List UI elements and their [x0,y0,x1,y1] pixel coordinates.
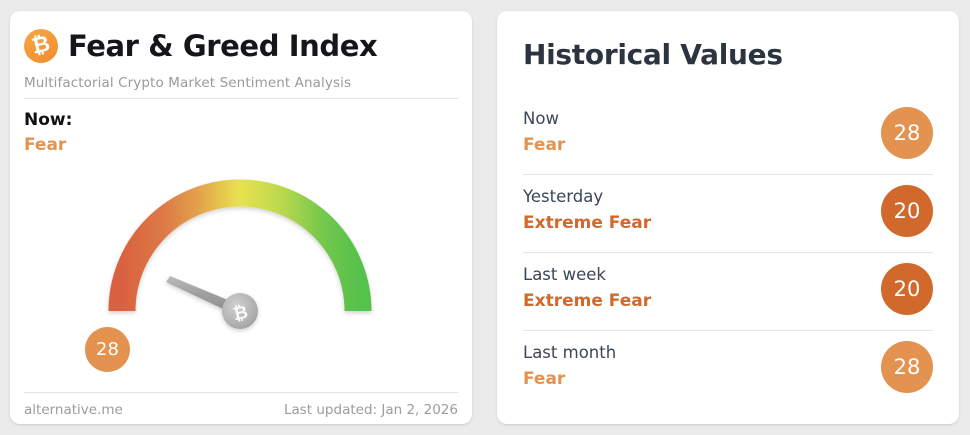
card-header: ₿ Fear & Greed Index [24,29,377,63]
history-row-period: Last week [523,265,606,284]
history-row-period: Now [523,109,559,128]
app-root: ₿ Fear & Greed Index Multifactorial Cryp… [0,0,970,435]
page-subtitle: Multifactorial Crypto Market Sentiment A… [24,75,351,91]
history-list: NowFear28YesterdayExtreme Fear20Last wee… [523,97,933,408]
history-title: Historical Values [523,38,783,71]
history-row-score-badge: 28 [881,341,933,393]
footer-last-updated: Last updated: Jan 2, 2026 [284,402,458,418]
history-row-value: Extreme Fear [523,291,651,311]
fear-greed-gauge-card: ₿ Fear & Greed Index Multifactorial Cryp… [10,11,472,424]
gauge-svg: ₿ [10,159,472,374]
history-row: Last monthFear28 [523,331,933,408]
history-row-value: Fear [523,135,565,155]
history-row-value: Fear [523,369,565,389]
gauge-visualization: ₿ 28 [10,159,472,374]
footer-divider [24,392,458,393]
history-row-period: Last month [523,343,616,362]
history-row-period: Yesterday [523,187,603,206]
historical-values-card: Historical Values NowFear28YesterdayExtr… [497,11,959,424]
gauge-value-badge: 28 [85,327,130,372]
history-row: Last weekExtreme Fear20 [523,253,933,331]
bitcoin-icon: ₿ [24,29,58,63]
history-row-value: Extreme Fear [523,213,651,233]
header-divider [24,98,458,99]
footer-source-link[interactable]: alternative.me [24,402,123,418]
bitcoin-glyph: ₿ [30,33,52,58]
now-value: Fear [24,135,66,155]
history-row-score-badge: 20 [881,263,933,315]
history-row: YesterdayExtreme Fear20 [523,175,933,253]
page-title: Fear & Greed Index [68,32,377,61]
history-row-score-badge: 20 [881,185,933,237]
history-row-score-badge: 28 [881,107,933,159]
history-row: NowFear28 [523,97,933,175]
now-label: Now: [24,110,72,130]
